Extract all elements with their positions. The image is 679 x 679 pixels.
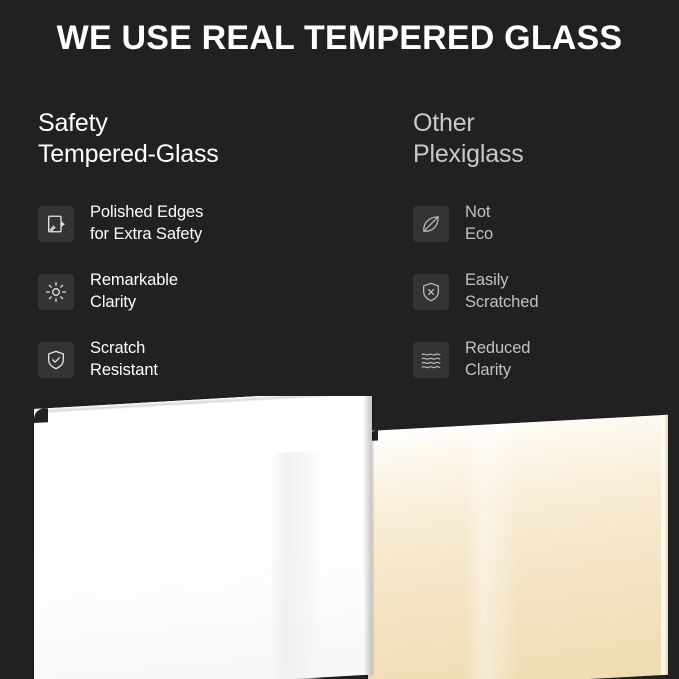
- comparison-column-plexiglass: Other Plexiglass Not Eco: [413, 108, 679, 405]
- sun-clarity-icon: [38, 274, 74, 310]
- feature-list-right: Not Eco Easily Scratched: [413, 201, 679, 383]
- glass-reflection: [270, 450, 322, 679]
- feature-label: Remarkable Clarity: [90, 270, 178, 312]
- column-heading-right: Other Plexiglass: [413, 108, 679, 171]
- tempered-glass-panel: [34, 396, 372, 679]
- feature-label: Polished Edges for Extra Safety: [90, 202, 203, 244]
- column-heading-left: Safety Tempered-Glass: [38, 108, 378, 171]
- plexi-edge: [661, 415, 668, 675]
- page-title: WE USE REAL TEMPERED GLASS: [0, 20, 679, 57]
- leaf-crossed-icon: [413, 206, 449, 242]
- plexiglass-panel: [368, 415, 668, 679]
- feature-label: Scratch Resistant: [90, 338, 158, 380]
- feature-label: Not Eco: [465, 202, 493, 244]
- feature-label: Reduced Clarity: [465, 338, 530, 380]
- shield-check-icon: [38, 342, 74, 378]
- feature-row: Not Eco: [413, 201, 679, 247]
- glass-top-edge: [34, 396, 372, 414]
- shield-x-icon: [413, 274, 449, 310]
- comparison-column-tempered-glass: Safety Tempered-Glass Polished Edges for…: [38, 108, 378, 405]
- feature-row: Scratch Resistant: [38, 337, 378, 383]
- polished-edge-icon: [38, 206, 74, 242]
- product-photo: [0, 396, 679, 679]
- feature-row: Easily Scratched: [413, 269, 679, 315]
- feature-row: Polished Edges for Extra Safety: [38, 201, 378, 247]
- feature-list-left: Polished Edges for Extra Safety Remarkab…: [38, 201, 378, 383]
- plexi-reflection: [464, 423, 518, 679]
- infographic-page: WE USE REAL TEMPERED GLASS Safety Temper…: [0, 0, 679, 679]
- waves-icon: [413, 342, 449, 378]
- feature-label: Easily Scratched: [465, 270, 538, 312]
- feature-row: Remarkable Clarity: [38, 269, 378, 315]
- feature-row: Reduced Clarity: [413, 337, 679, 383]
- glass-right-edge: [363, 396, 372, 675]
